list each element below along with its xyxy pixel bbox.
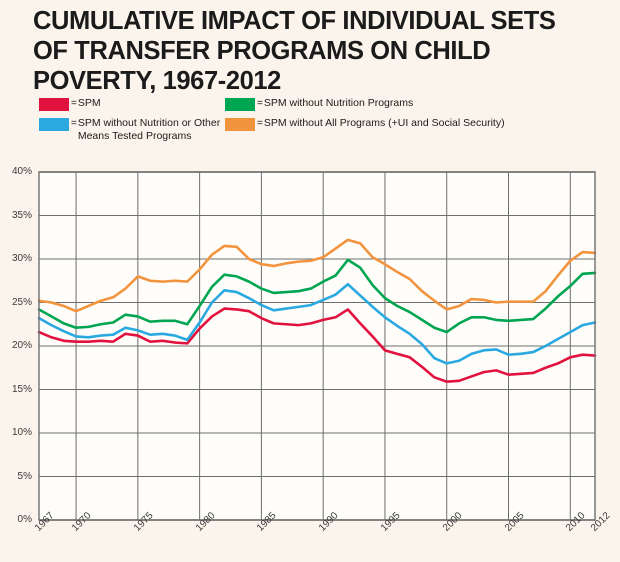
y-tick-label: 10% [0,427,32,438]
y-tick-label: 35% [0,210,32,221]
y-tick-label: 0% [0,514,32,525]
y-tick-label: 20% [0,340,32,351]
chart-svg [0,0,620,562]
chart-plot-area: 0%5%10%15%20%25%30%35%40% 19671970197519… [0,0,620,562]
y-tick-label: 25% [0,297,32,308]
y-tick-label: 15% [0,384,32,395]
y-tick-label: 40% [0,166,32,177]
y-tick-label: 30% [0,253,32,264]
chart-page: Cumulative Impact of Individual Sets of … [0,0,620,562]
y-tick-label: 5% [0,471,32,482]
